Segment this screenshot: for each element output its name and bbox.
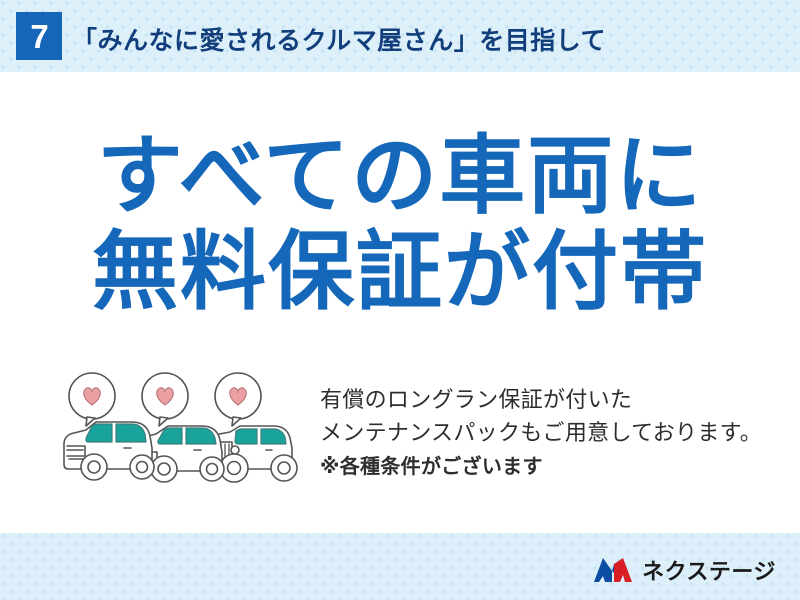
heart-bubble-1 — [69, 373, 115, 426]
headline-block: すべての車両に 無料保証が付帯 — [0, 128, 800, 320]
cars-illustration — [52, 368, 302, 498]
body-copy: 有償のロングラン保証が付いた メンテナンスパックもご用意しております。 ※各種条… — [320, 384, 762, 482]
heart-bubble-3 — [215, 373, 261, 426]
heart-bubble-2 — [142, 373, 188, 426]
headline-line-2: 無料保証が付帯 — [0, 224, 800, 320]
advertisement-page: 7 「みんなに愛されるクルマ屋さん」を目指して すべての車両に 無料保証が付帯 — [0, 0, 800, 600]
headline-line-1: すべての車両に — [0, 128, 800, 224]
car-kei-wagon — [64, 422, 154, 480]
header-title: 「みんなに愛されるクルマ屋さん」を目指して — [72, 21, 606, 57]
body-copy-note: ※各種条件がございます — [320, 450, 762, 482]
nextage-n-mark-icon — [592, 556, 634, 584]
section-number-badge: 7 — [16, 12, 62, 60]
body-copy-line-1: 有償のロングラン保証が付いた — [320, 384, 762, 417]
brand-logo: ネクステージ — [592, 554, 776, 586]
cars-illustration-svg — [52, 368, 302, 498]
body-copy-line-2: メンテナンスパックもご用意しております。 — [320, 417, 762, 450]
brand-name-label: ネクステージ — [642, 554, 776, 586]
lower-section: 有償のロングラン保証が付いた メンテナンスパックもご用意しております。 ※各種条… — [0, 368, 800, 518]
section-number-label: 7 — [30, 20, 47, 53]
